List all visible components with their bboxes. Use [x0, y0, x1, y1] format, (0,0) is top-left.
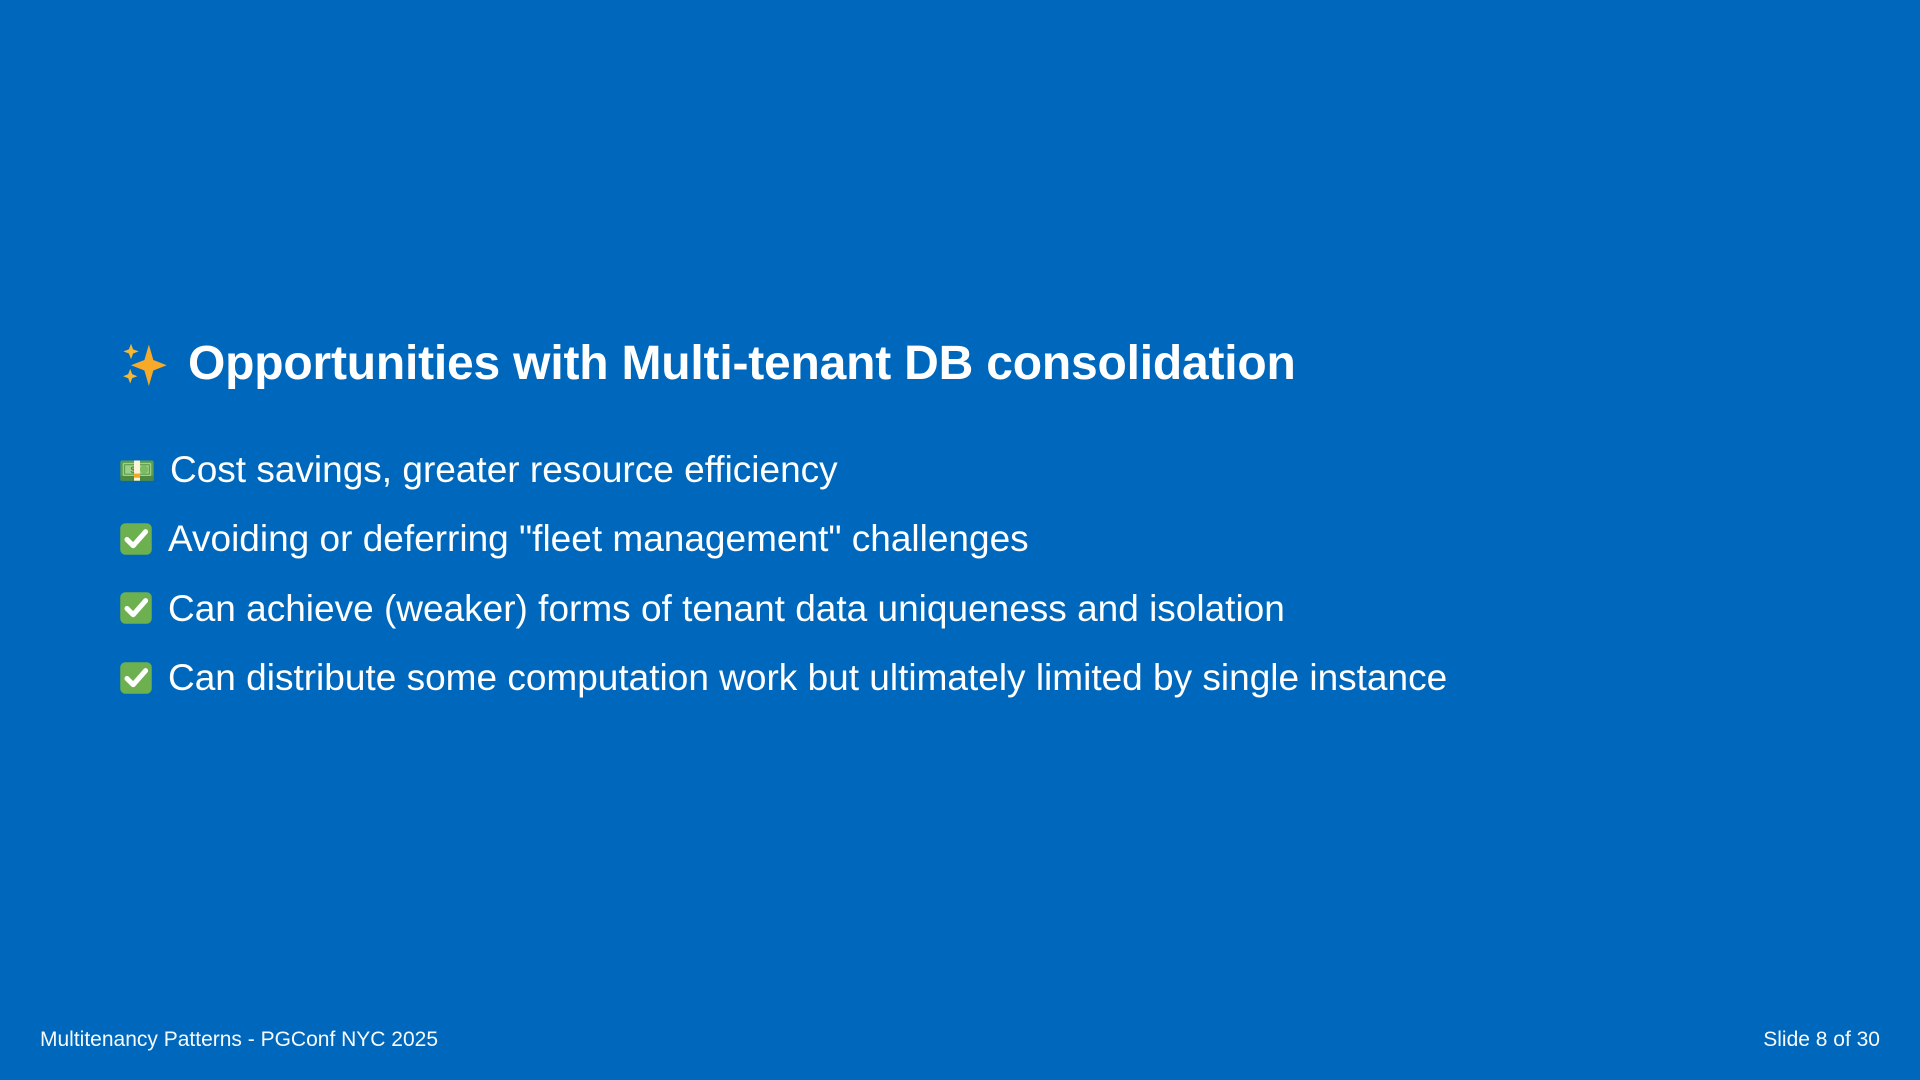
list-item-text: Can distribute some computation work but…	[168, 657, 1447, 698]
slide-canvas: Opportunities with Multi-tenant DB conso…	[0, 0, 1920, 1080]
bullet-list: $ Cost savings, greater resource efficie…	[118, 449, 1818, 699]
check-mark-button-icon	[118, 590, 154, 626]
list-item-text: Can achieve (weaker) forms of tenant dat…	[168, 588, 1285, 629]
list-item: $ Cost savings, greater resource efficie…	[118, 449, 1818, 490]
check-mark-button-icon	[118, 521, 154, 557]
list-item: Avoiding or deferring "fleet management"…	[118, 518, 1818, 559]
slide-content: Opportunities with Multi-tenant DB conso…	[118, 338, 1818, 699]
dollar-banknote-icon: $	[118, 451, 156, 489]
sparkles-icon	[118, 338, 170, 390]
list-item: Can distribute some computation work but…	[118, 657, 1818, 698]
list-item: Can achieve (weaker) forms of tenant dat…	[118, 588, 1818, 629]
list-item-text: Avoiding or deferring "fleet management"…	[168, 518, 1029, 559]
footer-deck-title: Multitenancy Patterns - PGConf NYC 2025	[40, 1028, 438, 1052]
page-title: Opportunities with Multi-tenant DB conso…	[118, 338, 1818, 391]
slide-number: Slide 8 of 30	[1763, 1028, 1880, 1052]
page-title-text: Opportunities with Multi-tenant DB conso…	[188, 338, 1296, 391]
list-item-text: Cost savings, greater resource efficienc…	[170, 449, 838, 490]
check-mark-button-icon	[118, 660, 154, 696]
